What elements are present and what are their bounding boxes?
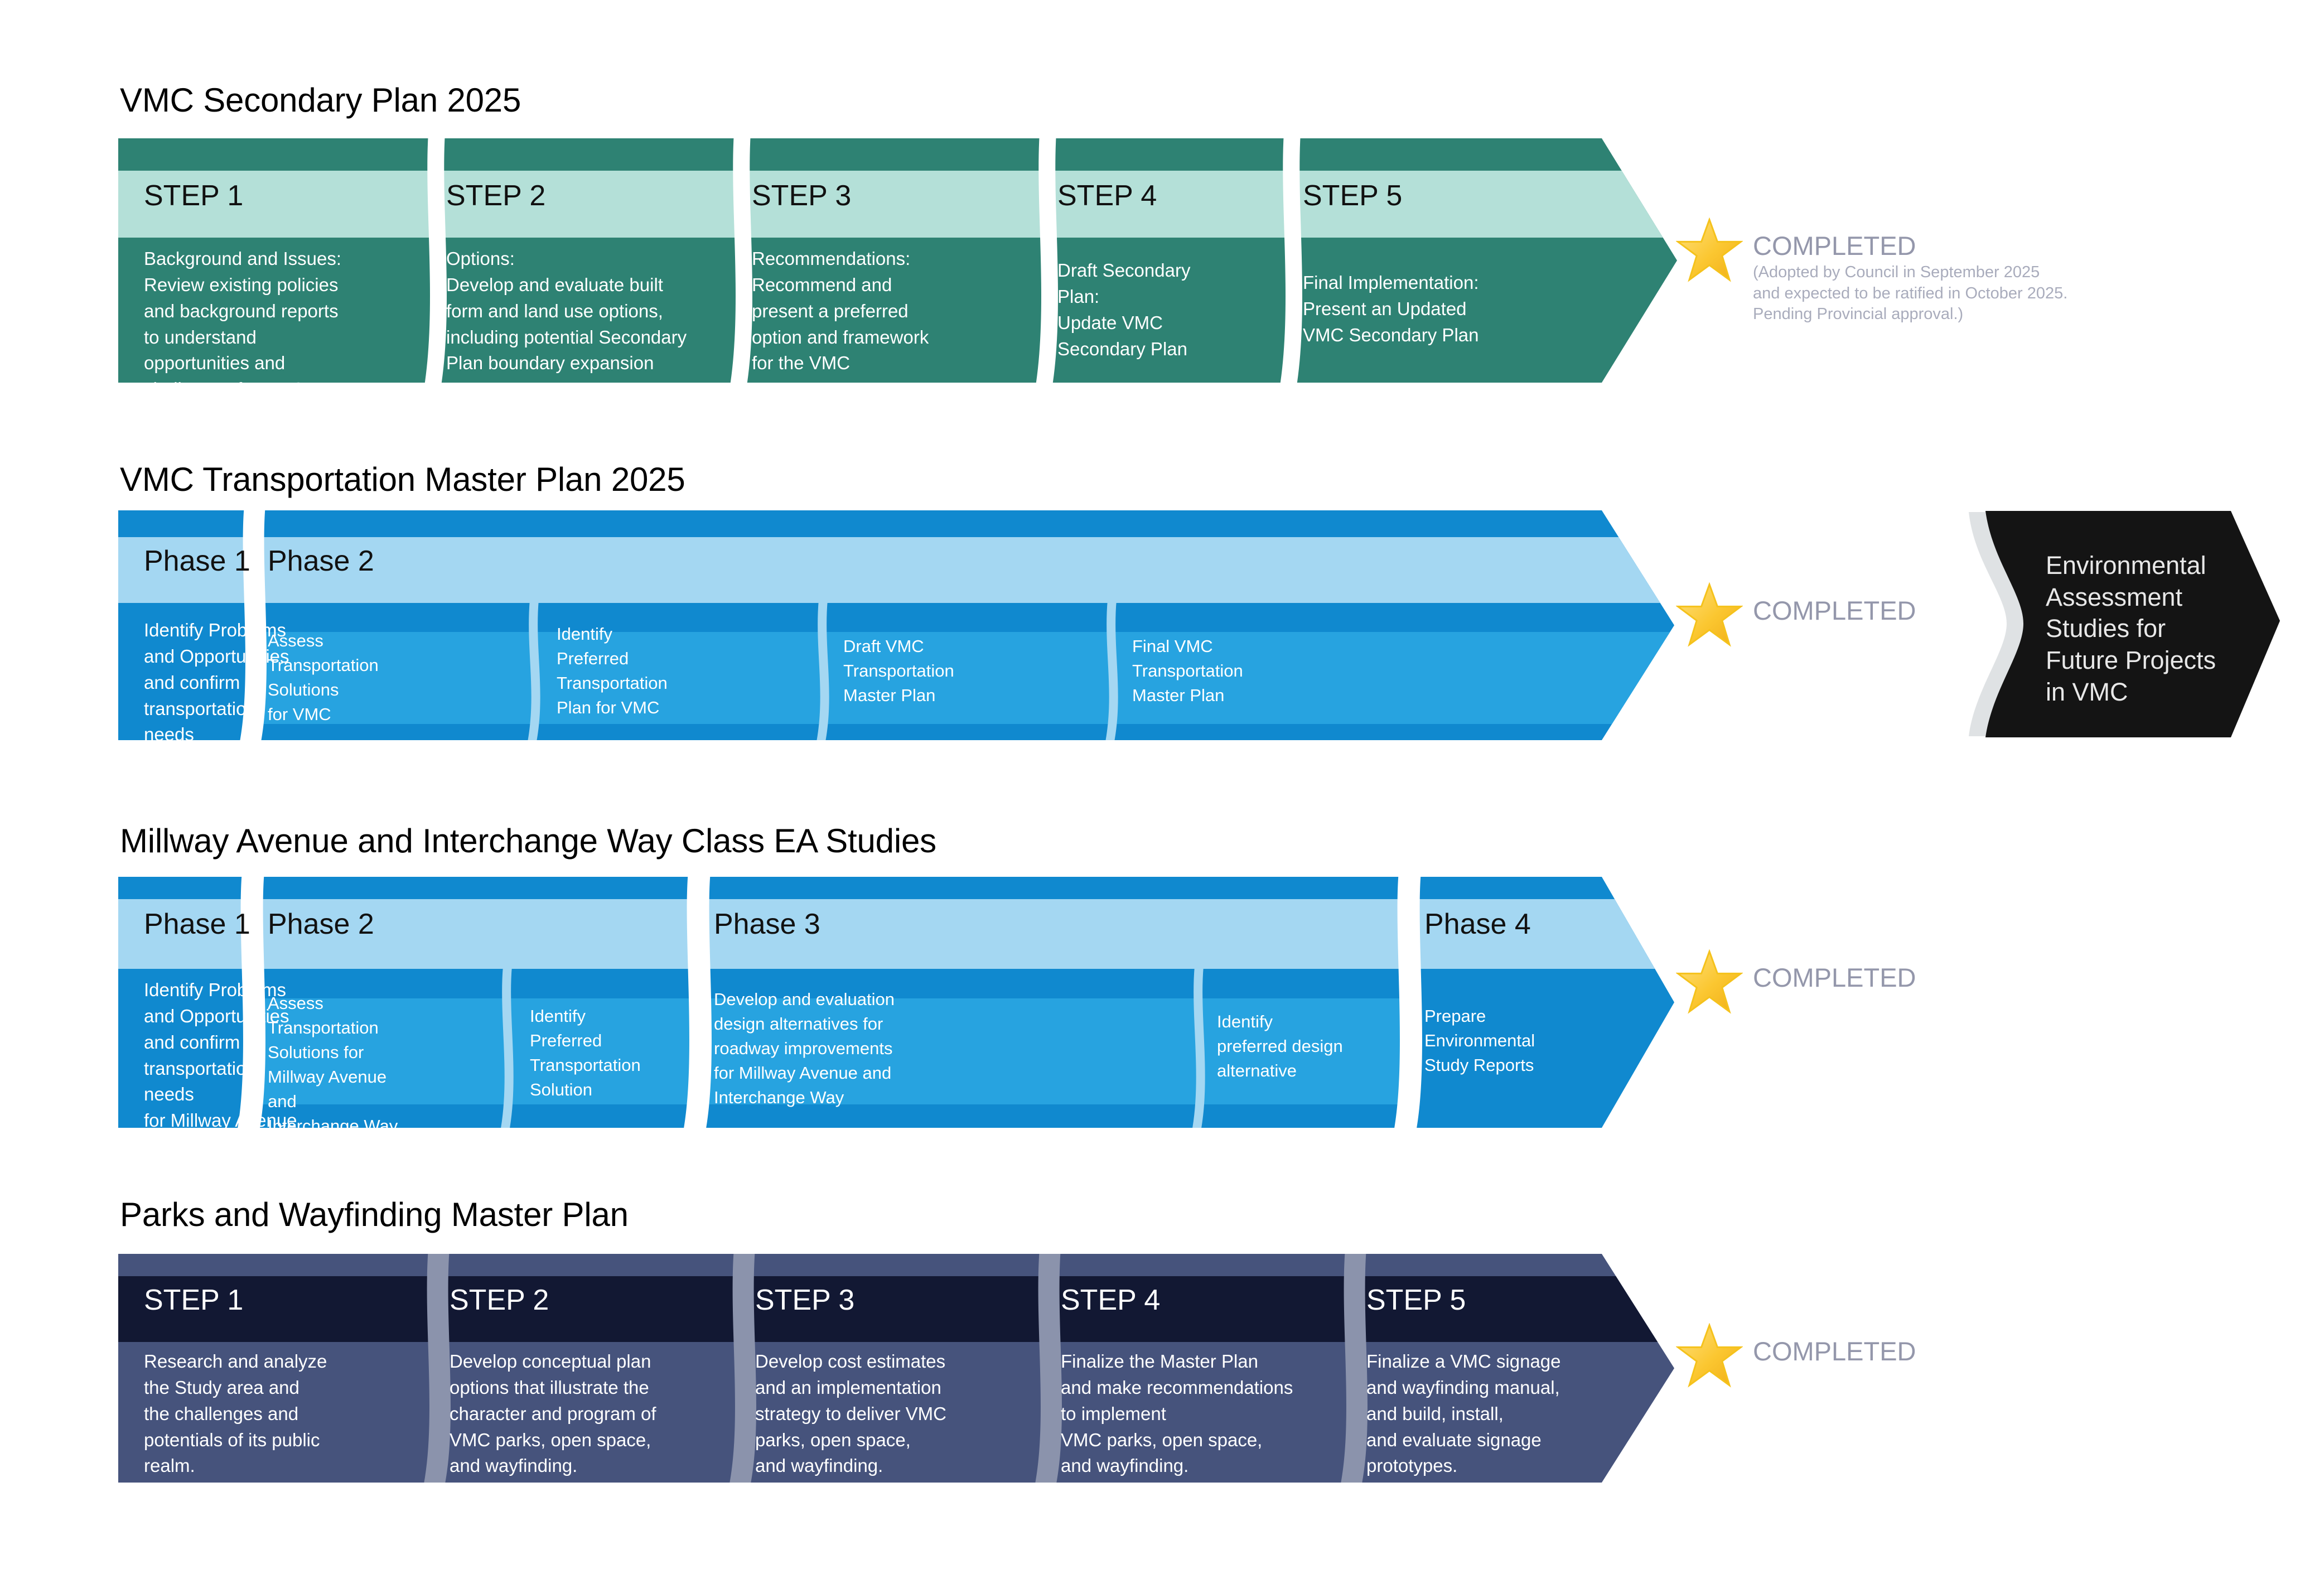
step-body-3: Develop cost estimates and an implementa… [755, 1349, 1040, 1479]
step-label-4: STEP 4 [1061, 1285, 1160, 1316]
step-label-1: STEP 1 [144, 181, 243, 211]
status-badge-transportation: COMPLETED [1676, 592, 1916, 648]
status-label: COMPLETED [1753, 232, 2067, 260]
flow-vmc-transportation-master-plan: Phase 1 Phase 2 Identify Problems and Op… [118, 510, 1803, 740]
step-body-1: Research and analyze the Study area and … [144, 1349, 412, 1479]
environmental-assessment-callout[interactable]: Environmental Assessment Studies for Fut… [1963, 506, 2309, 741]
step-body-3: Recommendations: Recommend and present a… [752, 246, 1014, 376]
step-label-2: STEP 2 [450, 1285, 549, 1316]
step-body-2: Develop conceptual plan options that ill… [450, 1349, 740, 1479]
section-title: Millway Avenue and Interchange Way Class… [120, 824, 936, 858]
phase-label-4: Phase 4 [1424, 909, 1531, 940]
star-icon [1676, 582, 1743, 648]
step-body-5: Finalize a VMC signage and wayfinding ma… [1366, 1349, 1651, 1479]
step-body-6: Prepare Environmental Study Reports [1424, 1004, 1581, 1078]
step-body-2: Assess Transportation Solutions for VMC [268, 629, 396, 727]
step-label-2: STEP 2 [446, 181, 545, 211]
step-body-5: Identify preferred design alternative [1217, 1010, 1368, 1083]
section-title: VMC Transportation Master Plan 2025 [120, 463, 685, 496]
step-body-4: Finalize the Master Plan and make recomm… [1061, 1349, 1362, 1479]
section-title: VMC Secondary Plan 2025 [120, 84, 521, 117]
flow-parks-wayfinding-master-plan: STEP 1 STEP 2 STEP 3 STEP 4 STEP 5 Resea… [118, 1254, 1803, 1483]
step-body-1: Background and Issues: Review existing p… [144, 246, 423, 403]
step-body-4: Develop and evaluation design alternativ… [714, 987, 948, 1110]
step-body-2: Options: Develop and evaluate built form… [446, 246, 736, 376]
status-text-block: COMPLETED (Adopted by Council in Septemb… [1753, 228, 2067, 325]
step-body-3: Identify Preferred Transportation Plan f… [557, 622, 690, 720]
step-body-3: Identify Preferred Transportation Soluti… [530, 1004, 653, 1102]
phase-label-1: Phase 1 [144, 909, 250, 940]
status-text-block: COMPLETED [1753, 1333, 1916, 1365]
step-label-3: STEP 3 [752, 181, 851, 211]
section-title: Parks and Wayfinding Master Plan [120, 1198, 629, 1232]
star-icon [1676, 1323, 1743, 1389]
phase-label-3: Phase 3 [714, 909, 820, 940]
status-text-block: COMPLETED [1753, 592, 1916, 625]
step-body-5: Final Implementation: Present an Updated… [1303, 270, 1554, 349]
callout-text: Environmental Assessment Studies for Fut… [2046, 550, 2216, 708]
status-text-block: COMPLETED [1753, 959, 1916, 992]
step-label-4: STEP 4 [1057, 181, 1157, 211]
status-note: (Adopted by Council in September 2025 an… [1753, 262, 2067, 325]
section-vmc-secondary-plan: VMC Secondary Plan 2025 [120, 84, 521, 117]
step-label-1: STEP 1 [144, 1285, 243, 1316]
section-vmc-transportation-master-plan: VMC Transportation Master Plan 2025 [120, 463, 685, 496]
step-body-4: Draft Secondary Plan: Update VMC Seconda… [1057, 258, 1281, 362]
flow-millway-interchange-class-ea: Phase 1 Phase 2 Phase 3 Phase 4 Identify… [118, 877, 1803, 1128]
infographic-page: VMC Secondary Plan 2025 STEP 1 [0, 0, 2324, 1569]
flow-vmc-secondary-plan: STEP 1 STEP 2 STEP 3 STEP 4 STEP 5 Backg… [118, 138, 1803, 383]
phase-label-1: Phase 1 [144, 546, 250, 577]
status-label: COMPLETED [1753, 1338, 1916, 1365]
status-label: COMPLETED [1753, 597, 1916, 625]
step-label-5: STEP 5 [1366, 1285, 1466, 1316]
step-body-2: Assess Transportation Solutions for Mill… [268, 991, 407, 1138]
section-millway-interchange-class-ea: Millway Avenue and Interchange Way Class… [120, 824, 936, 858]
star-icon [1676, 218, 1743, 283]
step-label-5: STEP 5 [1303, 181, 1402, 211]
step-label-3: STEP 3 [755, 1285, 854, 1316]
status-badge-secondary-plan: COMPLETED (Adopted by Council in Septemb… [1676, 228, 2067, 325]
status-badge-parks: COMPLETED [1676, 1333, 1916, 1389]
phase-label-2: Phase 2 [268, 909, 374, 940]
step-body-4: Draft VMC Transportation Master Plan [843, 634, 988, 708]
phase-label-2: Phase 2 [268, 546, 374, 577]
section-parks-wayfinding-master-plan: Parks and Wayfinding Master Plan [120, 1198, 629, 1232]
star-icon [1676, 949, 1743, 1015]
step-body-5: Final VMC Transportation Master Plan [1132, 634, 1277, 708]
status-badge-millway: COMPLETED [1676, 959, 1916, 1015]
status-label: COMPLETED [1753, 964, 1916, 992]
